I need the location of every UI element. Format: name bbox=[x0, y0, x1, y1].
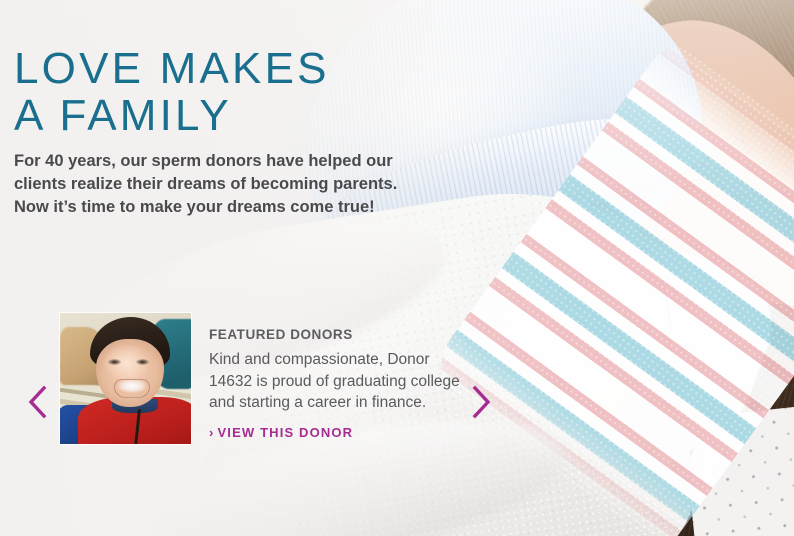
hero-headline: LOVE MAKES A FAMILY bbox=[14, 45, 330, 139]
thumbnail-child-smile bbox=[114, 379, 150, 398]
featured-donor-thumbnail[interactable] bbox=[60, 313, 191, 444]
thumbnail-child-right-eye bbox=[136, 359, 149, 365]
featured-donor-description: Kind and compassionate, Donor 14632 is p… bbox=[209, 349, 469, 414]
caret-right-icon: › bbox=[209, 425, 214, 440]
chevron-left-icon bbox=[26, 385, 48, 419]
view-this-donor-label: VIEW THIS DONOR bbox=[217, 425, 353, 440]
view-this-donor-link[interactable]: ›VIEW THIS DONOR bbox=[209, 425, 353, 440]
hero-subcopy: For 40 years, our sperm donors have help… bbox=[14, 150, 434, 219]
hero-banner: LOVE MAKES A FAMILY For 40 years, our sp… bbox=[0, 0, 794, 536]
hero-content: LOVE MAKES A FAMILY For 40 years, our sp… bbox=[0, 0, 794, 536]
featured-donors-kicker: FEATURED DONORS bbox=[209, 327, 469, 342]
carousel-prev-button[interactable] bbox=[20, 382, 54, 422]
featured-donor-card: FEATURED DONORS Kind and compassionate, … bbox=[209, 327, 469, 442]
thumbnail-child-left-eye bbox=[108, 359, 121, 365]
carousel-next-button[interactable] bbox=[464, 382, 498, 422]
chevron-right-icon bbox=[470, 385, 492, 419]
